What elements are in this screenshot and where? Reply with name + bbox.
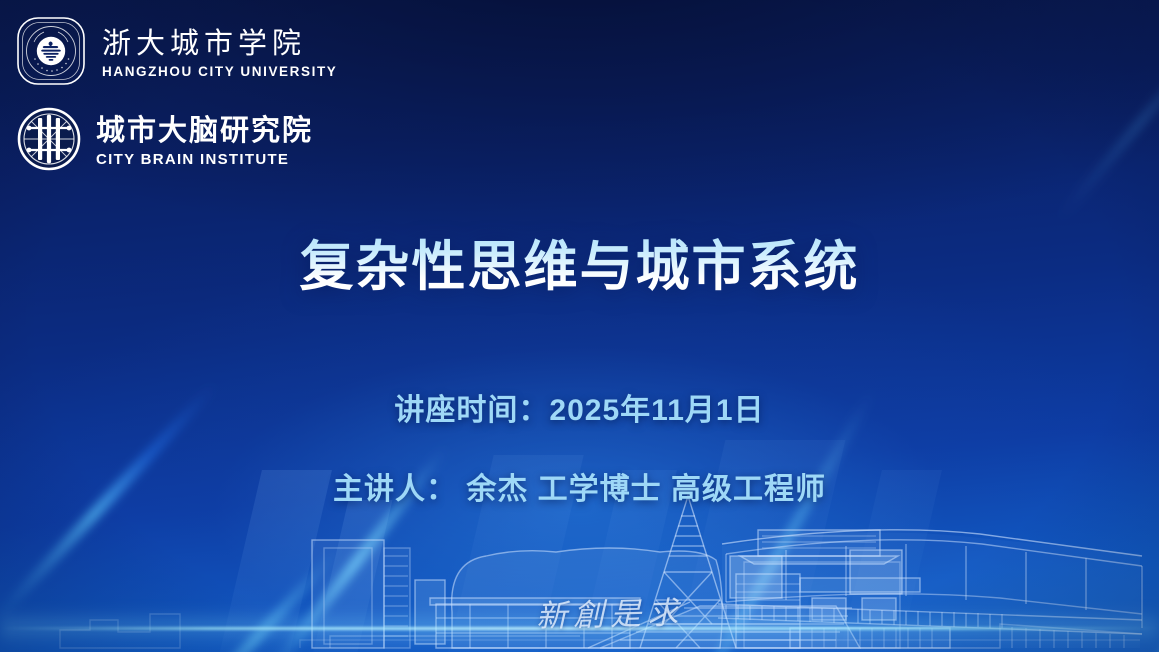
university-name-cn: 浙大城市学院 bbox=[102, 29, 337, 58]
light-streak bbox=[1054, 21, 1159, 224]
institute-name-en: CITY BRAIN INSTITUTE bbox=[96, 152, 313, 167]
lecture-date: 讲座时间：2025年11月1日 bbox=[0, 385, 1159, 429]
presentation-slide: 新創是求 bbox=[0, 0, 1159, 652]
university-logo: 浙大城市学院 HANGZHOU CITY UNIVERSITY bbox=[14, 14, 337, 93]
university-name-en: HANGZHOU CITY UNIVERSITY bbox=[102, 65, 337, 79]
slide-title: 复杂性思维与城市系统 bbox=[0, 222, 1159, 301]
lecture-speaker: 主讲人： 余杰 工学博士 高级工程师 bbox=[0, 464, 1159, 508]
campus-motto: 新創是求 bbox=[535, 587, 684, 636]
institute-name-cn: 城市大脑研究院 bbox=[96, 117, 313, 146]
city-brain-institute-emblem-icon bbox=[16, 106, 82, 177]
institute-logo: 城市大脑研究院 CITY BRAIN INSTITUTE bbox=[16, 106, 313, 177]
hangzhou-city-university-emblem-icon bbox=[14, 14, 88, 93]
